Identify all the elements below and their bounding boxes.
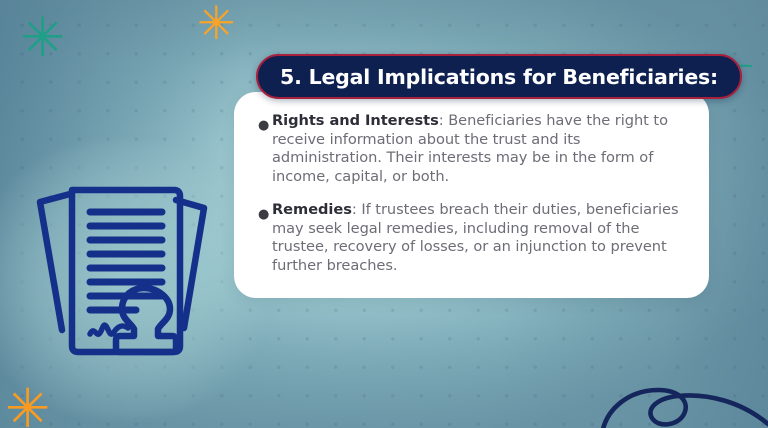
document-with-stamp-icon <box>24 178 224 368</box>
asterisk-teal-icon: ✳ <box>20 11 65 65</box>
asterisk-orange-bottom-icon: ✳ <box>5 382 50 428</box>
bullet-body: Remedies: If trustees breach their dutie… <box>272 201 690 276</box>
bullet-separator: : <box>439 112 448 129</box>
bullet-label: Remedies <box>272 201 352 218</box>
bullet-body: Rights and Interests: Beneficiaries have… <box>272 112 690 187</box>
title-badge: 5. Legal Implications for Beneficiaries: <box>256 54 742 99</box>
bullet-dot-icon: ● <box>258 112 272 187</box>
bullet-dot-icon: ● <box>258 201 272 276</box>
bullet-separator: : <box>352 201 361 218</box>
bullet-list: ● Rights and Interests: Beneficiaries ha… <box>258 112 690 290</box>
title-badge-text: 5. Legal Implications for Beneficiaries: <box>280 65 718 89</box>
slide-canvas: ✳ ✳ ✳ <box>0 0 768 428</box>
list-item: ● Remedies: If trustees breach their dut… <box>258 201 690 276</box>
list-item: ● Rights and Interests: Beneficiaries ha… <box>258 112 690 187</box>
bullet-label: Rights and Interests <box>272 112 439 129</box>
squiggle-bottom-right-icon <box>596 374 768 428</box>
asterisk-orange-top-icon: ✳ <box>197 0 236 46</box>
